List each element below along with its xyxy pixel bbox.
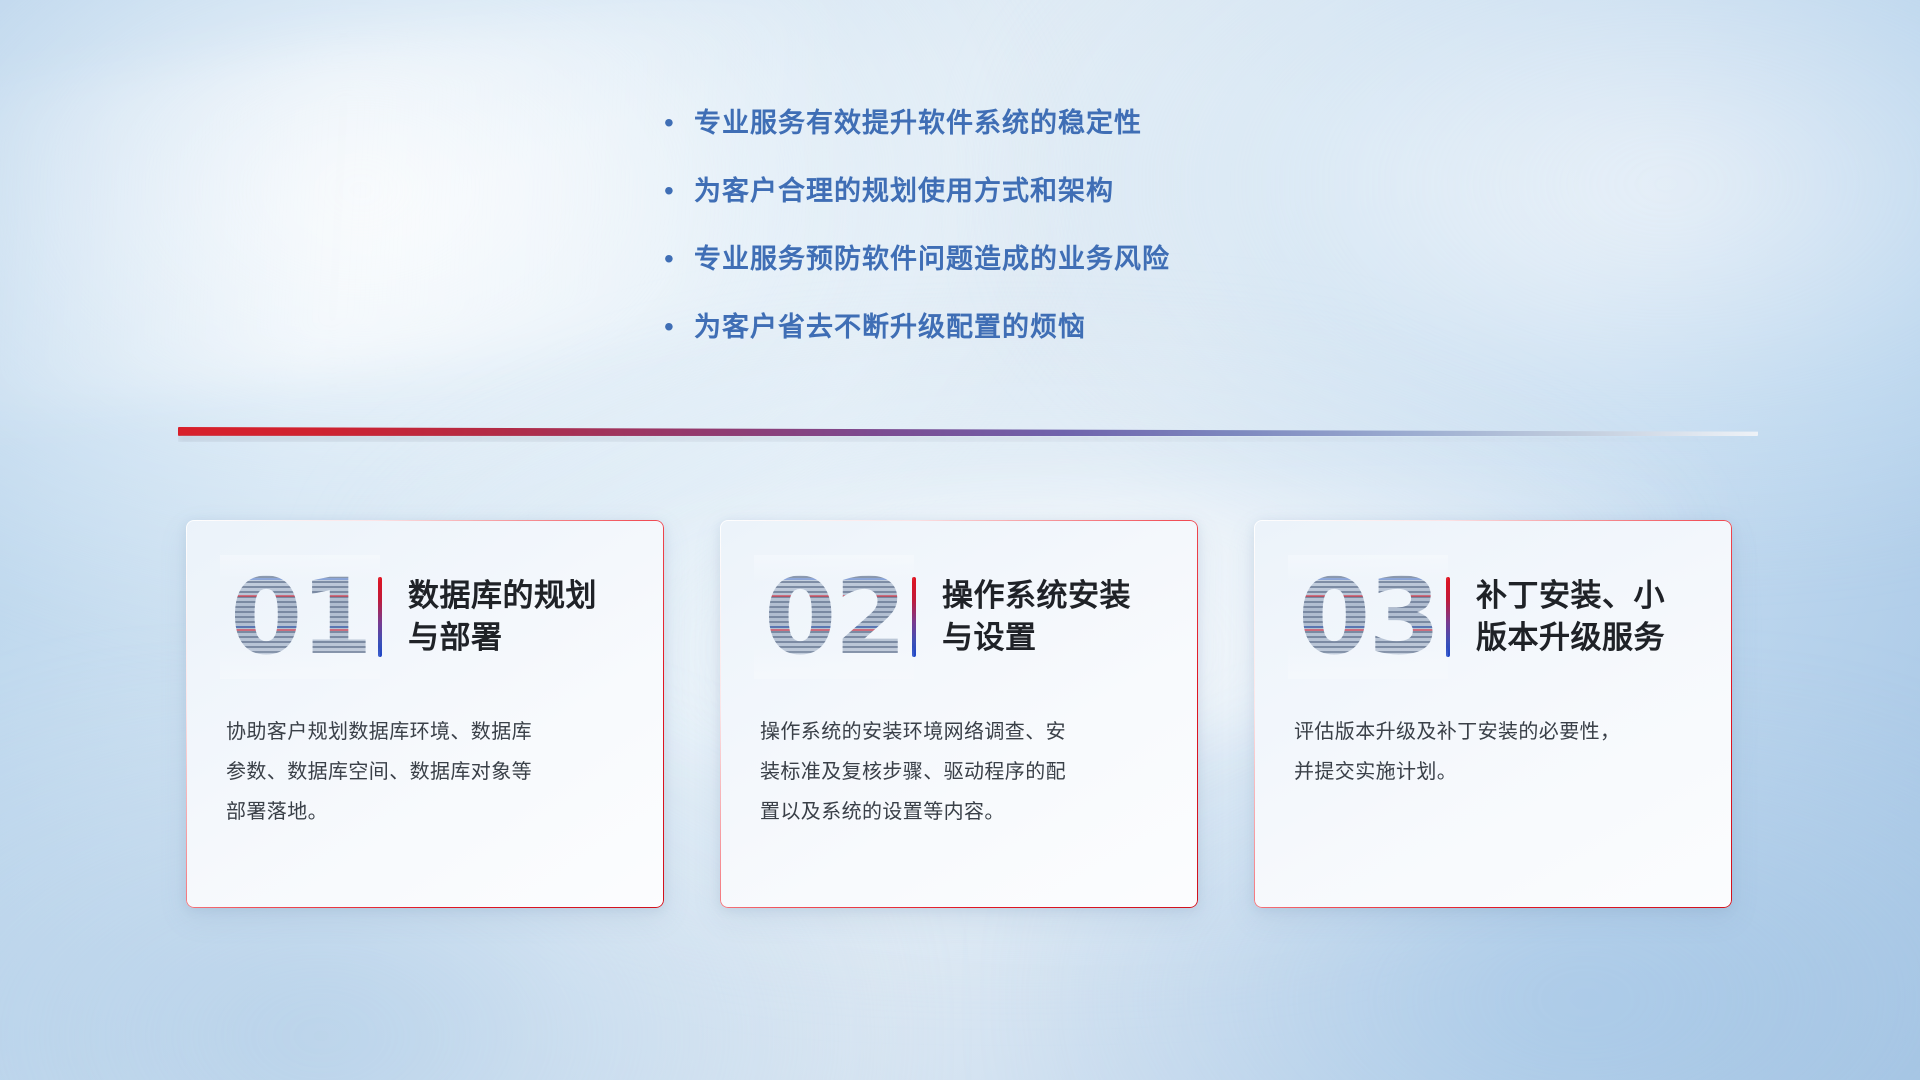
list-item: • 为客户合理的规划使用方式和架构: [660, 172, 1420, 210]
card-number-glyph: 01: [230, 561, 370, 673]
card-header: 02 02 操作系统安装 与设置: [760, 558, 1158, 676]
list-item: • 为客户省去不断升级配置的烦恼: [660, 308, 1420, 346]
card-number: 02 02: [764, 561, 904, 673]
bullet-point-icon: •: [660, 172, 694, 210]
card-description: 操作系统的安装环境网络调查、安 装标准及复核步骤、驱动程序的配 置以及系统的设置…: [760, 712, 1158, 832]
card-description-line: 部署落地。: [226, 792, 624, 832]
card-number-glyph: 03: [1298, 561, 1438, 673]
bullet-point-icon: •: [660, 240, 694, 278]
card-title: 补丁安装、小 版本升级服务: [1476, 575, 1692, 659]
card-description-line: 装标准及复核步骤、驱动程序的配: [760, 752, 1158, 792]
list-item: • 专业服务预防软件问题造成的业务风险: [660, 240, 1420, 278]
card-description: 评估版本升级及补丁安装的必要性， 并提交实施计划。: [1294, 712, 1692, 792]
bullet-list: • 专业服务有效提升软件系统的稳定性 • 为客户合理的规划使用方式和架构 • 专…: [660, 104, 1420, 346]
card-number-glyph: 02: [764, 561, 904, 673]
service-card-01[interactable]: 01 01 数据库的规划 与部署 协助客户规划数据库环境、数据库 参数、数据库空…: [186, 520, 664, 908]
card-header: 01 01 数据库的规划 与部署: [226, 558, 624, 676]
card-title: 操作系统安装 与设置: [942, 575, 1158, 659]
card-description-line: 置以及系统的设置等内容。: [760, 792, 1158, 832]
card-description-line: 评估版本升级及补丁安装的必要性，: [1294, 712, 1692, 752]
bullet-text: 为客户合理的规划使用方式和架构: [694, 172, 1114, 210]
card-number: 01 01: [230, 561, 370, 673]
card-accent-bar: [912, 577, 916, 657]
bullet-text: 专业服务有效提升软件系统的稳定性: [694, 104, 1142, 142]
divider-shadow: [178, 435, 1758, 442]
card-title-line: 数据库的规划: [408, 575, 624, 617]
card-title-line: 与设置: [942, 617, 1158, 659]
divider-line: [178, 427, 1758, 436]
card-title-line: 版本升级服务: [1476, 617, 1692, 659]
card-accent-bar: [378, 577, 382, 657]
card-number: 03 03: [1298, 561, 1438, 673]
card-title-line: 与部署: [408, 617, 624, 659]
gradient-divider: [178, 424, 1758, 446]
card-row: 01 01 数据库的规划 与部署 协助客户规划数据库环境、数据库 参数、数据库空…: [186, 520, 1732, 908]
bullet-point-icon: •: [660, 308, 694, 346]
bullet-text: 专业服务预防软件问题造成的业务风险: [694, 240, 1170, 278]
card-accent-bar: [1446, 577, 1450, 657]
card-description-line: 参数、数据库空间、数据库对象等: [226, 752, 624, 792]
card-title: 数据库的规划 与部署: [408, 575, 624, 659]
card-description-line: 协助客户规划数据库环境、数据库: [226, 712, 624, 752]
card-title-line: 补丁安装、小: [1476, 575, 1692, 617]
service-card-03[interactable]: 03 03 补丁安装、小 版本升级服务 评估版本升级及补丁安装的必要性， 并提交…: [1254, 520, 1732, 908]
card-description-line: 操作系统的安装环境网络调查、安: [760, 712, 1158, 752]
list-item: • 专业服务有效提升软件系统的稳定性: [660, 104, 1420, 142]
service-card-02[interactable]: 02 02 操作系统安装 与设置 操作系统的安装环境网络调查、安 装标准及复核步…: [720, 520, 1198, 908]
card-header: 03 03 补丁安装、小 版本升级服务: [1294, 558, 1692, 676]
bullet-text: 为客户省去不断升级配置的烦恼: [694, 308, 1086, 346]
bullet-point-icon: •: [660, 104, 694, 142]
card-title-line: 操作系统安装: [942, 575, 1158, 617]
card-description: 协助客户规划数据库环境、数据库 参数、数据库空间、数据库对象等 部署落地。: [226, 712, 624, 832]
card-description-line: 并提交实施计划。: [1294, 752, 1692, 792]
